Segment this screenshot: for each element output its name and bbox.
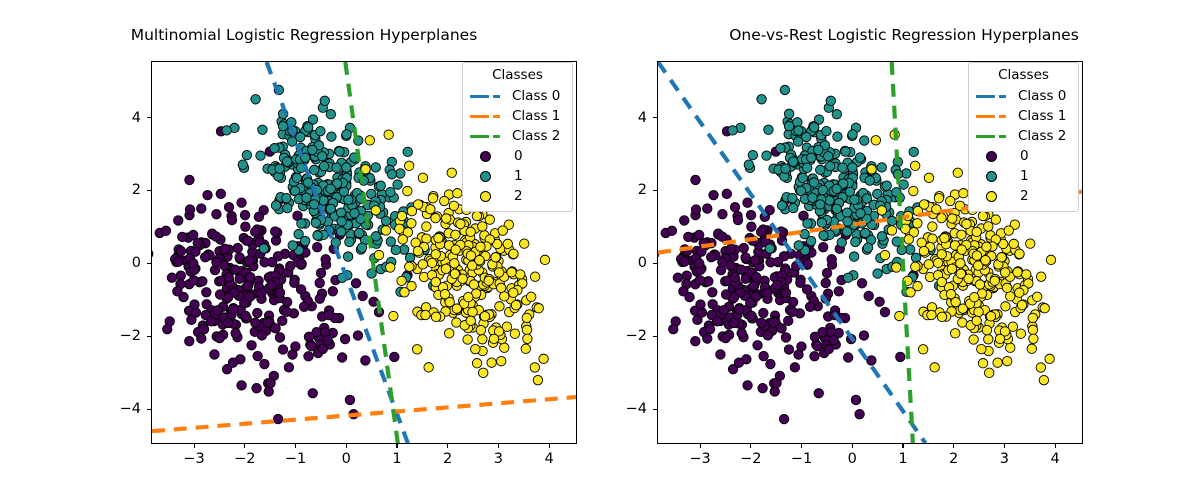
x-tick-label: −1 bbox=[791, 451, 812, 467]
data-point bbox=[308, 389, 317, 398]
data-point bbox=[937, 250, 946, 259]
data-point bbox=[270, 143, 279, 152]
legend-marker-swatch bbox=[470, 149, 506, 163]
data-point bbox=[766, 359, 775, 368]
data-point bbox=[691, 175, 700, 184]
dash-segment bbox=[470, 135, 489, 139]
data-point bbox=[326, 184, 335, 193]
data-point bbox=[819, 231, 828, 240]
data-point bbox=[336, 227, 345, 236]
data-point bbox=[264, 387, 273, 396]
data-point bbox=[210, 350, 219, 359]
panel-title: Multinomial Logistic Regression Hyperpla… bbox=[30, 26, 578, 44]
data-point bbox=[503, 239, 512, 248]
data-point bbox=[413, 246, 422, 255]
data-point bbox=[887, 226, 896, 235]
data-point bbox=[972, 251, 981, 260]
data-point bbox=[753, 341, 762, 350]
data-point bbox=[857, 279, 866, 288]
data-point bbox=[397, 276, 406, 285]
data-point bbox=[940, 233, 949, 242]
data-point bbox=[343, 252, 352, 261]
legend-dash-swatch bbox=[470, 109, 506, 123]
data-point bbox=[447, 168, 456, 177]
legend-entry-line-2[interactable]: Class 2 bbox=[470, 126, 565, 146]
data-point bbox=[984, 222, 993, 231]
data-point bbox=[250, 227, 259, 236]
marker-dot-icon bbox=[986, 171, 997, 182]
data-point bbox=[695, 259, 704, 268]
data-point bbox=[405, 262, 414, 271]
data-point bbox=[227, 215, 236, 224]
y-tick-mark bbox=[653, 409, 657, 410]
data-point bbox=[176, 246, 185, 255]
data-point bbox=[393, 180, 402, 189]
legend-entry-line-1[interactable]: Class 1 bbox=[976, 106, 1071, 126]
data-point bbox=[212, 209, 221, 218]
data-point bbox=[809, 123, 818, 132]
data-point bbox=[253, 308, 262, 317]
data-point bbox=[386, 187, 395, 196]
y-tick-mark bbox=[147, 263, 151, 264]
legend-entry-line-1[interactable]: Class 1 bbox=[470, 106, 565, 126]
data-point bbox=[290, 278, 299, 287]
data-point bbox=[717, 232, 726, 241]
data-point bbox=[246, 272, 255, 281]
legend-label: Class 0 bbox=[1018, 89, 1066, 104]
data-point bbox=[530, 363, 539, 372]
dash-segment bbox=[470, 115, 489, 119]
data-point bbox=[743, 198, 752, 207]
y-tick-mark bbox=[653, 190, 657, 191]
data-point bbox=[311, 218, 320, 227]
data-point bbox=[418, 260, 427, 269]
data-point bbox=[691, 336, 700, 345]
data-point bbox=[856, 209, 865, 218]
data-point bbox=[770, 387, 779, 396]
data-point bbox=[292, 173, 301, 182]
data-point bbox=[288, 241, 297, 250]
data-point bbox=[982, 242, 991, 251]
x-tick-label: −1 bbox=[285, 451, 306, 467]
data-point bbox=[716, 350, 725, 359]
data-point bbox=[427, 258, 436, 267]
data-point bbox=[342, 163, 351, 172]
data-point bbox=[712, 317, 721, 326]
dash-segment bbox=[999, 115, 1006, 119]
data-point bbox=[794, 241, 803, 250]
marker-dot-icon bbox=[986, 191, 997, 202]
data-point bbox=[1004, 226, 1013, 235]
data-point bbox=[523, 334, 532, 343]
data-point bbox=[776, 143, 785, 152]
x-tick-mark bbox=[194, 444, 195, 448]
data-point bbox=[1040, 303, 1049, 312]
data-point bbox=[389, 311, 398, 320]
data-point bbox=[243, 236, 252, 245]
data-point bbox=[387, 170, 396, 179]
data-point bbox=[997, 252, 1006, 261]
data-point bbox=[747, 222, 756, 231]
data-point bbox=[275, 333, 284, 342]
data-point bbox=[440, 289, 449, 298]
data-point bbox=[361, 356, 370, 365]
data-point bbox=[251, 95, 260, 104]
data-point bbox=[679, 287, 688, 296]
data-point bbox=[495, 302, 504, 311]
data-point bbox=[310, 165, 319, 174]
data-point bbox=[772, 378, 781, 387]
data-point bbox=[673, 273, 682, 282]
x-tick-mark bbox=[953, 444, 954, 448]
data-point bbox=[750, 256, 759, 265]
data-point bbox=[734, 358, 743, 367]
data-point bbox=[1015, 288, 1024, 297]
data-point bbox=[825, 161, 834, 170]
data-point bbox=[278, 316, 287, 325]
data-point bbox=[475, 255, 484, 264]
legend-label: 2 bbox=[512, 189, 523, 204]
y-tick-label: −2 bbox=[609, 328, 647, 344]
data-point bbox=[466, 227, 475, 236]
data-point bbox=[906, 288, 915, 297]
data-point bbox=[404, 161, 413, 170]
data-point bbox=[764, 125, 773, 134]
data-point bbox=[877, 163, 886, 172]
x-tick-label: 1 bbox=[392, 451, 401, 467]
legend-title: Classes bbox=[470, 68, 565, 83]
legend-marker-swatch bbox=[470, 189, 506, 203]
data-point bbox=[391, 245, 400, 254]
data-point bbox=[235, 253, 244, 262]
axes-ovr: One-vs-Rest Logistic Regression Hyperpla… bbox=[600, 0, 1200, 500]
data-point bbox=[991, 215, 1000, 224]
data-point bbox=[297, 259, 306, 268]
data-point bbox=[743, 381, 752, 390]
data-point bbox=[808, 193, 817, 202]
data-point bbox=[788, 307, 797, 316]
data-point bbox=[200, 252, 209, 261]
data-point bbox=[813, 341, 822, 350]
data-point bbox=[321, 255, 330, 264]
x-tick-mark bbox=[447, 444, 448, 448]
data-point bbox=[1029, 334, 1038, 343]
data-point bbox=[215, 333, 224, 342]
data-point bbox=[242, 150, 251, 159]
data-point bbox=[318, 344, 327, 353]
data-point bbox=[472, 359, 481, 368]
data-point bbox=[283, 203, 292, 212]
data-point bbox=[1028, 313, 1037, 322]
data-point bbox=[695, 276, 704, 285]
data-point bbox=[381, 216, 390, 225]
data-point bbox=[185, 175, 194, 184]
data-point bbox=[726, 244, 735, 253]
data-point bbox=[520, 239, 529, 248]
data-point bbox=[972, 227, 981, 236]
data-point bbox=[340, 334, 349, 343]
data-point bbox=[257, 331, 266, 340]
data-point bbox=[331, 238, 340, 247]
data-point bbox=[873, 269, 882, 278]
data-point bbox=[197, 334, 206, 343]
data-point bbox=[784, 316, 793, 325]
data-point bbox=[509, 249, 518, 258]
data-point bbox=[759, 351, 768, 360]
data-point bbox=[174, 257, 183, 266]
data-point bbox=[243, 281, 252, 290]
data-point bbox=[489, 334, 498, 343]
data-point bbox=[932, 205, 941, 214]
data-point bbox=[810, 352, 819, 361]
data-point bbox=[254, 212, 263, 221]
data-point bbox=[928, 222, 937, 231]
data-point bbox=[456, 219, 465, 228]
data-point bbox=[428, 193, 437, 202]
data-point bbox=[958, 304, 967, 313]
data-point bbox=[309, 200, 318, 209]
data-point bbox=[418, 173, 427, 182]
data-point bbox=[739, 243, 748, 252]
data-point bbox=[316, 268, 325, 277]
data-point bbox=[511, 300, 520, 309]
data-point bbox=[709, 190, 718, 199]
data-point bbox=[411, 238, 420, 247]
data-point bbox=[733, 215, 742, 224]
data-point bbox=[257, 288, 266, 297]
y-tick-mark bbox=[147, 190, 151, 191]
hyperplane-class-2 bbox=[345, 62, 397, 443]
data-point bbox=[353, 331, 362, 340]
data-point bbox=[386, 263, 395, 272]
data-point bbox=[441, 264, 450, 273]
data-point bbox=[237, 198, 246, 207]
legend-label: Class 1 bbox=[1018, 109, 1066, 124]
data-point bbox=[247, 341, 256, 350]
data-point bbox=[871, 136, 880, 145]
data-point bbox=[345, 237, 354, 246]
data-point bbox=[762, 151, 771, 160]
data-point bbox=[817, 218, 826, 227]
data-point bbox=[832, 109, 841, 118]
data-point bbox=[773, 280, 782, 289]
data-point bbox=[312, 242, 321, 251]
data-point bbox=[814, 389, 823, 398]
data-point bbox=[826, 96, 835, 105]
data-point bbox=[466, 251, 475, 260]
legend-entry-marker-1[interactable]: 1 bbox=[470, 166, 565, 186]
data-point bbox=[357, 243, 366, 252]
data-point bbox=[485, 215, 494, 224]
data-point bbox=[972, 316, 981, 325]
data-point bbox=[199, 324, 208, 333]
data-point bbox=[896, 352, 905, 361]
data-point bbox=[781, 288, 790, 297]
y-tick-mark bbox=[147, 336, 151, 337]
data-point bbox=[1002, 356, 1011, 365]
y-tick-label: −4 bbox=[609, 401, 647, 417]
data-point bbox=[895, 311, 904, 320]
data-point bbox=[263, 318, 272, 327]
data-point bbox=[534, 303, 543, 312]
data-point bbox=[185, 205, 194, 214]
legend-entry-marker-0[interactable]: 0 bbox=[976, 146, 1071, 166]
data-point bbox=[224, 202, 233, 211]
data-point bbox=[198, 277, 207, 286]
data-point bbox=[834, 287, 843, 296]
data-point bbox=[304, 352, 313, 361]
data-point bbox=[303, 123, 312, 132]
data-point bbox=[773, 257, 782, 266]
data-point bbox=[1016, 329, 1025, 338]
data-point bbox=[407, 219, 416, 228]
data-point bbox=[880, 307, 889, 316]
data-point bbox=[326, 204, 335, 213]
data-point bbox=[522, 313, 531, 322]
data-point bbox=[478, 222, 487, 231]
data-point bbox=[860, 136, 869, 145]
data-point bbox=[412, 345, 421, 354]
data-point bbox=[323, 335, 332, 344]
data-point bbox=[251, 318, 260, 327]
data-point bbox=[975, 280, 984, 289]
data-point bbox=[315, 294, 324, 303]
data-point bbox=[376, 181, 385, 190]
legend-entry-line-2[interactable]: Class 2 bbox=[976, 126, 1071, 146]
data-point bbox=[984, 335, 993, 344]
data-point bbox=[487, 358, 496, 367]
data-point bbox=[463, 335, 472, 344]
data-point bbox=[832, 204, 841, 213]
data-point bbox=[452, 304, 461, 313]
data-point bbox=[480, 312, 489, 321]
data-point bbox=[937, 213, 946, 222]
data-point bbox=[228, 358, 237, 367]
data-point bbox=[816, 165, 825, 174]
x-tick-label: 2 bbox=[949, 451, 958, 467]
data-point bbox=[178, 232, 187, 241]
data-point bbox=[440, 196, 449, 205]
data-point bbox=[708, 288, 717, 297]
legend-entry-line-0[interactable]: Class 0 bbox=[470, 86, 565, 106]
data-point bbox=[206, 317, 215, 326]
legend[interactable]: ClassesClass 0Class 1Class 2012 bbox=[968, 62, 1079, 212]
data-point bbox=[332, 163, 341, 172]
data-point bbox=[1027, 344, 1036, 353]
data-point bbox=[752, 272, 761, 281]
data-point bbox=[258, 125, 267, 134]
data-point bbox=[256, 151, 265, 160]
data-point bbox=[981, 255, 990, 264]
x-tick-mark bbox=[1004, 444, 1005, 448]
dash-segment bbox=[470, 95, 489, 99]
data-point bbox=[728, 126, 737, 135]
data-point bbox=[1036, 363, 1045, 372]
data-point bbox=[223, 318, 232, 327]
dash-segment bbox=[976, 95, 995, 99]
data-point bbox=[947, 264, 956, 273]
legend-entry-marker-0[interactable]: 0 bbox=[470, 146, 565, 166]
data-point bbox=[282, 193, 291, 202]
data-point bbox=[850, 195, 859, 204]
data-point bbox=[237, 381, 246, 390]
x-tick-mark bbox=[1055, 444, 1056, 448]
legend-entry-line-0[interactable]: Class 0 bbox=[976, 86, 1071, 106]
marker-dot-icon bbox=[480, 191, 491, 202]
data-point bbox=[521, 344, 530, 353]
data-point bbox=[308, 145, 317, 154]
data-point bbox=[1000, 268, 1009, 277]
legend[interactable]: ClassesClass 0Class 1Class 2012 bbox=[462, 62, 573, 212]
data-point bbox=[797, 342, 806, 351]
legend-marker-swatch bbox=[976, 169, 1012, 183]
data-point bbox=[371, 206, 380, 215]
data-point bbox=[667, 226, 676, 235]
data-point bbox=[476, 325, 485, 334]
data-point bbox=[367, 269, 376, 278]
data-point bbox=[784, 345, 793, 354]
data-point bbox=[450, 259, 459, 268]
legend-marker-swatch bbox=[976, 189, 1012, 203]
data-point bbox=[240, 298, 249, 307]
data-point bbox=[865, 176, 874, 185]
data-point bbox=[803, 219, 812, 228]
data-point bbox=[403, 147, 412, 156]
data-point bbox=[215, 290, 224, 299]
data-point bbox=[953, 168, 962, 177]
data-point bbox=[407, 206, 416, 215]
data-point bbox=[282, 307, 291, 316]
legend-label: 0 bbox=[512, 149, 523, 164]
data-point bbox=[843, 273, 852, 282]
data-point bbox=[993, 358, 1002, 367]
legend-label: 0 bbox=[1018, 149, 1029, 164]
data-point bbox=[260, 359, 269, 368]
data-point bbox=[400, 288, 409, 297]
data-point bbox=[442, 214, 451, 223]
legend-label: Class 0 bbox=[512, 89, 560, 104]
data-point bbox=[533, 375, 542, 384]
legend-entry-marker-1[interactable]: 1 bbox=[976, 166, 1071, 186]
data-point bbox=[1032, 292, 1041, 301]
x-tick-mark bbox=[902, 444, 903, 448]
legend-entry-marker-2[interactable]: 2 bbox=[470, 186, 565, 206]
data-point bbox=[384, 130, 393, 139]
data-point bbox=[469, 280, 478, 289]
data-point bbox=[841, 147, 850, 156]
x-tick-label: 0 bbox=[848, 451, 857, 467]
data-point bbox=[337, 217, 346, 226]
legend-dash-swatch bbox=[470, 89, 506, 103]
data-point bbox=[319, 161, 328, 170]
data-point bbox=[320, 96, 329, 105]
data-point bbox=[741, 253, 750, 262]
data-point bbox=[374, 250, 383, 259]
data-point bbox=[212, 258, 221, 267]
legend-label: Class 2 bbox=[1018, 129, 1066, 144]
data-point bbox=[539, 354, 548, 363]
y-tick-mark bbox=[147, 117, 151, 118]
data-point bbox=[721, 290, 730, 299]
marker-dot-icon bbox=[480, 171, 491, 182]
legend-entry-marker-2[interactable]: 2 bbox=[976, 186, 1071, 206]
data-point bbox=[453, 188, 462, 197]
data-point bbox=[365, 136, 374, 145]
data-point bbox=[789, 157, 798, 166]
legend-label: 1 bbox=[512, 169, 523, 184]
data-point bbox=[328, 287, 337, 296]
data-point bbox=[990, 276, 999, 285]
